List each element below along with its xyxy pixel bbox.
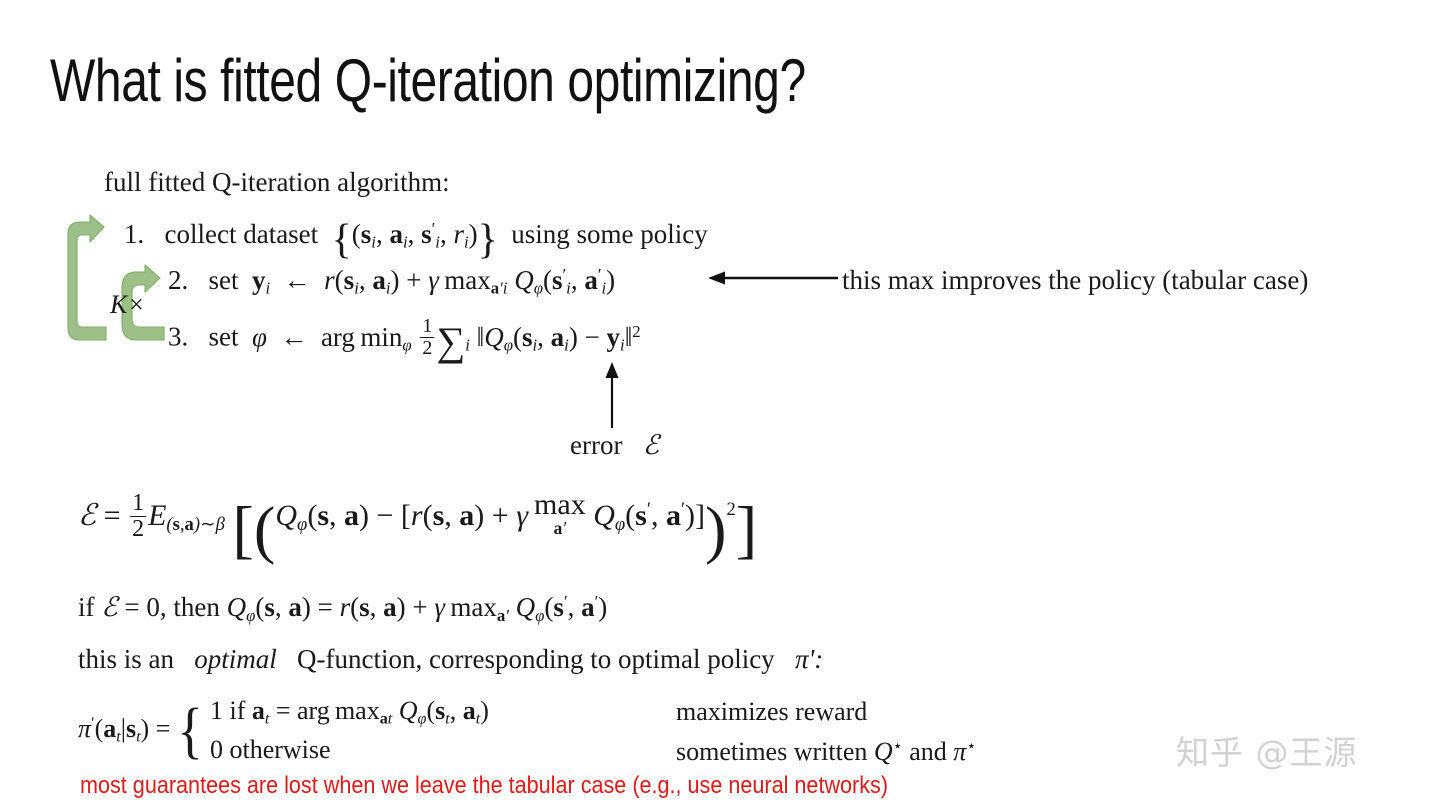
algorithm-heading: full fitted Q-iteration algorithm: [104, 167, 450, 198]
max-callout-arrow-icon [708, 268, 838, 293]
policy-definition: π′(at|st) = { 1 if at = arg maxat Qφ(st,… [78, 692, 489, 770]
policy-notes: maximizes reward sometimes written Q⋆ an… [676, 692, 976, 771]
algorithm-step-3: 3. set φ ← arg minφ 12∑i ‖Qφ(si, ai) − y… [168, 316, 641, 365]
step-2-number: 2. [168, 265, 188, 295]
optimal-policy-symbol: π': [795, 644, 823, 674]
error-callout-arrow-icon [602, 362, 622, 433]
optimal-lead: this is an [78, 644, 174, 674]
zhihu-watermark: 知乎 @王源 [1176, 726, 1358, 774]
step-3-lead: set [209, 322, 239, 352]
policy-case-true: 1 if at = arg maxat Qφ(st, at) [210, 692, 489, 731]
step-1-number: 1. [124, 219, 144, 249]
step-3-math: φ ← arg minφ 12∑i ‖Qφ(si, ai) − yi‖2 [245, 322, 640, 352]
max-callout-text: this max improves the policy (tabular ca… [842, 265, 1308, 296]
algorithm-step-1: 1. collect dataset {(si, ai, s′i, ri)} u… [124, 216, 708, 264]
error-callout-prefix: error [570, 430, 622, 460]
policy-case-false: 0 otherwise [210, 731, 489, 769]
error-equation: ℰ = 12E(s,a)∼β [(Qφ(s, a) − [r(s, a) + γ… [78, 490, 757, 567]
optimal-trail: Q-function, corresponding to optimal pol… [297, 644, 775, 674]
policy-lhs: π′(at|st) = [78, 714, 170, 747]
step-2-lead: set [209, 265, 239, 295]
statement-if-error-zero: if ℰ = 0, then Qφ(s, a) = r(s, a) + γ ma… [78, 592, 607, 625]
step-1-trail: using some policy [511, 219, 708, 249]
step-1-lead: collect dataset [165, 219, 319, 249]
loop-count-label: K× [110, 290, 145, 320]
policy-note-maximizes: maximizes reward [676, 692, 976, 732]
policy-note-star: sometimes written Q⋆ and π⋆ [676, 732, 976, 772]
slide-canvas: What is fitted Q-iteration optimizing? f… [0, 0, 1440, 807]
caveat-text: most guarantees are lost when we leave t… [80, 772, 888, 800]
statement-optimal-q: this is an optimal Q-function, correspon… [78, 644, 823, 675]
step-2-math: yi ← r(si, ai) + γ maxa′i Qφ(s′i, a′i) [245, 265, 615, 295]
outer-loop-arrow-icon [60, 211, 112, 356]
step-1-math: {(si, ai, s′i, ri)} [325, 219, 511, 249]
error-callout-symbol: ℰ [643, 430, 659, 460]
optimal-emphasis: optimal [194, 644, 277, 674]
policy-brace-icon: { [177, 702, 203, 760]
loop-count-text: K× [110, 290, 145, 319]
error-callout-label: error ℰ [570, 430, 659, 461]
algorithm-step-2: 2. set yi ← r(si, ai) + γ maxa′i Qφ(s′i,… [168, 265, 615, 298]
step-3-number: 3. [168, 322, 188, 352]
page-title: What is fitted Q-iteration optimizing? [50, 46, 806, 115]
